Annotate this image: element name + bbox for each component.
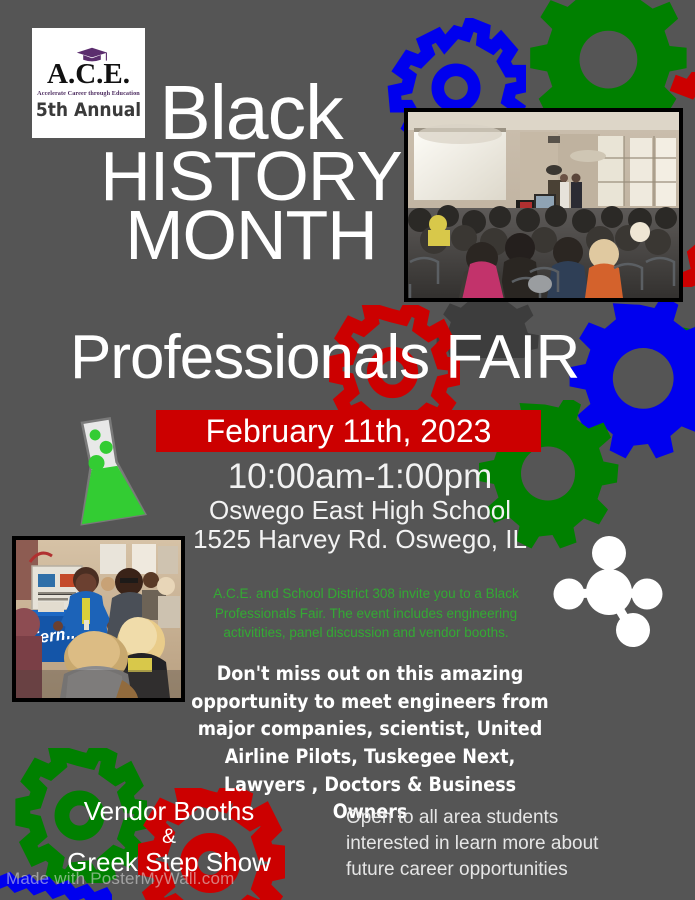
invitation-text: A.C.E. and School District 308 invite yo… <box>196 584 536 643</box>
event-date-text: February 11th, 2023 <box>206 413 492 450</box>
event-details: 10:00am-1:00pm Oswego East High School 1… <box>150 458 570 554</box>
ampersand-label: & <box>34 826 304 848</box>
headline-line-professionals-fair: Professionals FAIR <box>70 322 630 393</box>
event-venue: Oswego East High School <box>150 496 570 525</box>
headline-line-month: MONTH <box>86 203 416 268</box>
postermywall-watermark: Made with PosterMyWall.com <box>6 869 234 889</box>
ace-acronym: A.C.E. <box>47 60 130 89</box>
vendor-booths-block: Vendor Booths & Greek Step Show <box>34 798 304 877</box>
ace-edition: 5th Annual <box>36 101 141 120</box>
poster-canvas: A.C.E. Accelerate Career through Educati… <box>0 0 695 900</box>
gear-green-right-edge <box>640 325 695 415</box>
fermilab-booth-photo: Fermilab <box>12 536 185 702</box>
ace-tagline: Accelerate Career through Education <box>37 90 140 97</box>
event-address: 1525 Harvey Rd. Oswego, IL <box>150 525 570 554</box>
vendor-booths-label: Vendor Booths <box>34 798 304 825</box>
event-time: 10:00am-1:00pm <box>150 458 570 496</box>
ace-logo: A.C.E. Accelerate Career through Educati… <box>32 28 145 138</box>
auditorium-photo <box>404 108 683 302</box>
open-to-students-text: Open to all area students interested in … <box>346 805 646 884</box>
erlenmeyer-flask-icon <box>52 412 157 532</box>
event-date-banner: February 11th, 2023 <box>156 410 541 452</box>
